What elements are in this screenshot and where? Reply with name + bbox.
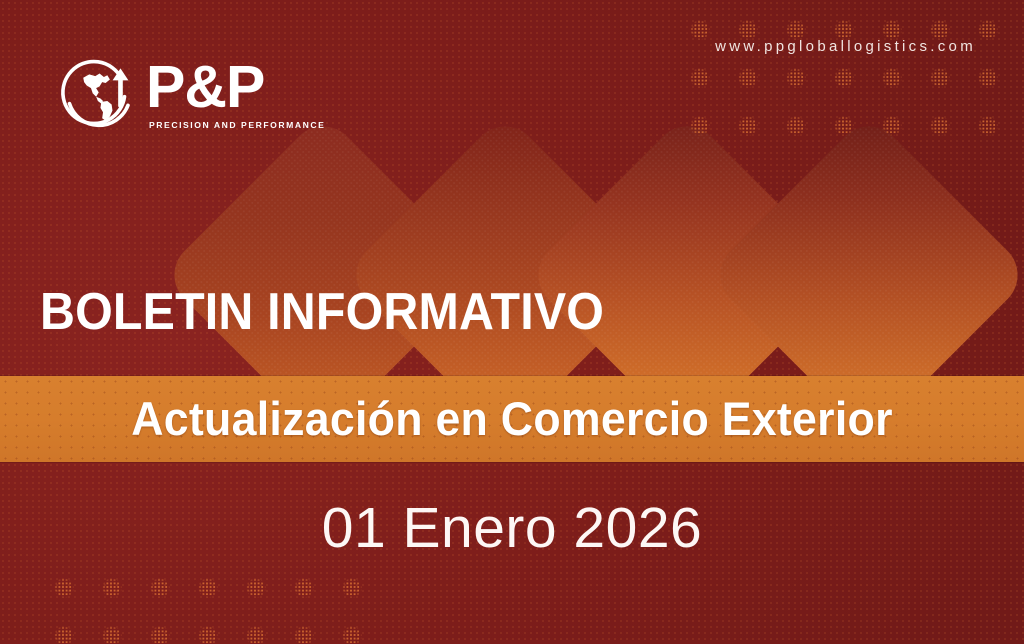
website-url[interactable]: www.ppgloballogistics.com xyxy=(715,38,976,55)
globe-arrow-icon xyxy=(54,52,140,138)
logo-wordmark: P&P PRECISION AND PERFORMANCE xyxy=(146,60,325,130)
subtitle: Actualización en Comercio Exterior xyxy=(26,388,999,450)
logo-tagline: PRECISION AND PERFORMANCE xyxy=(149,120,325,130)
logo-name: P&P xyxy=(146,60,264,114)
issue-date: 01 Enero 2026 xyxy=(0,495,1024,561)
page-title: BOLETIN INFORMATIVO xyxy=(40,286,604,338)
brand-logo[interactable]: P&P PRECISION AND PERFORMANCE xyxy=(54,52,325,138)
newsletter-banner: P&P PRECISION AND PERFORMANCE www.ppglob… xyxy=(0,0,1024,644)
